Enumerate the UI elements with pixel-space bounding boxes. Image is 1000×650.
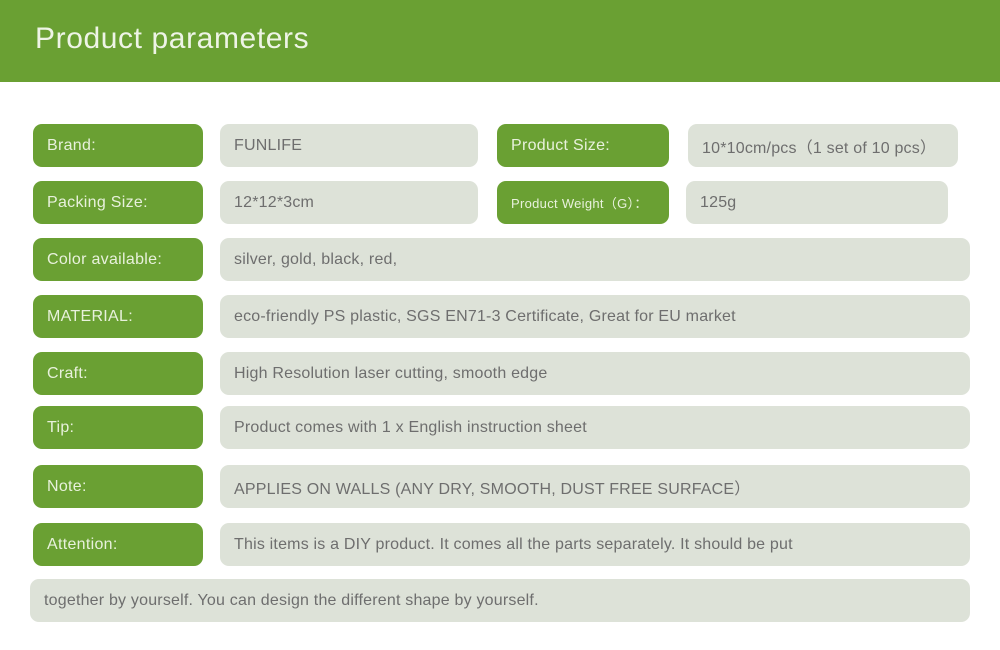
product-parameters-page: Product parameters Brand: FUNLIFE Produc… xyxy=(0,0,1000,650)
value-color-available: silver, gold, black, red, xyxy=(220,238,970,281)
value-tip: Product comes with 1 x English instructi… xyxy=(220,406,970,449)
value-brand: FUNLIFE xyxy=(220,124,478,167)
label-craft: Craft: xyxy=(33,352,203,395)
page-header-band: Product parameters xyxy=(0,0,1000,82)
value-attention: This items is a DIY product. It comes al… xyxy=(220,523,970,566)
label-brand: Brand: xyxy=(33,124,203,167)
page-title: Product parameters xyxy=(35,22,309,56)
label-product-size: Product Size: xyxy=(497,124,669,167)
value-product-weight: 125g xyxy=(686,181,948,224)
value-material: eco-friendly PS plastic, SGS EN71-3 Cert… xyxy=(220,295,970,338)
label-tip: Tip: xyxy=(33,406,203,449)
label-color-available: Color available: xyxy=(33,238,203,281)
label-product-weight: Product Weight（G）： xyxy=(497,181,669,224)
value-packing-size: 12*12*3cm xyxy=(220,181,478,224)
label-material: MATERIAL: xyxy=(33,295,203,338)
value-note: APPLIES ON WALLS (ANY DRY, SMOOTH, DUST … xyxy=(220,465,970,508)
label-attention: Attention: xyxy=(33,523,203,566)
label-packing-size: Packing Size: xyxy=(33,181,203,224)
value-attention-continued: together by yourself. You can design the… xyxy=(30,579,970,622)
value-product-size: 10*10cm/pcs（1 set of 10 pcs） xyxy=(688,124,958,167)
label-note: Note: xyxy=(33,465,203,508)
value-craft: High Resolution laser cutting, smooth ed… xyxy=(220,352,970,395)
